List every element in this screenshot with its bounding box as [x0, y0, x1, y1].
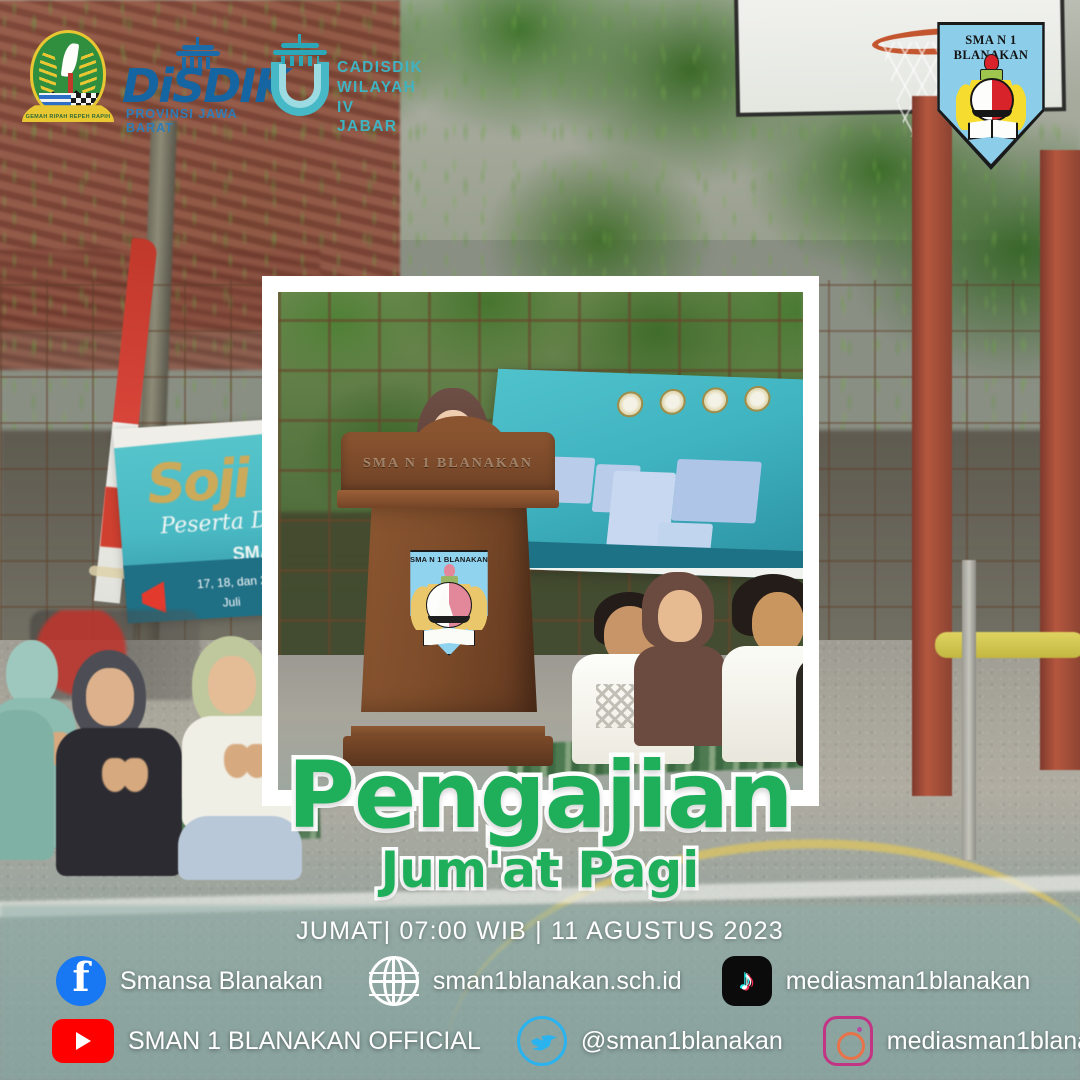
grey-pole — [962, 560, 976, 860]
crest-boat-icon — [428, 616, 470, 623]
podium-crest: SMA N 1 BLANAKAN — [405, 550, 493, 656]
cadisdik-line2: WILAYAH IV — [337, 78, 425, 118]
social-twitter[interactable]: @sman1blanakan — [517, 1016, 783, 1066]
instagram-label: mediasman1blanakan — [887, 1027, 1080, 1056]
framed-photo: SMA N 1 BLANAKAN SMA N 1 BLANAKAN — [278, 292, 803, 790]
social-footer: Smansa Blanakan sman1blanakan.sch.id med… — [0, 956, 1080, 1066]
social-row-2: SMAN 1 BLANAKAN OFFICIAL @sman1blanakan … — [52, 1016, 1028, 1066]
social-tiktok[interactable]: mediasman1blanakan — [722, 956, 1031, 1006]
poster-root: Soji Peserta Didik SMA N 1 17, 18, dan 2… — [0, 0, 1080, 1080]
podium-lip — [337, 490, 559, 508]
provinsi-jawa-barat-emblem: GEMAH RIPAH REPEH RAPIH — [22, 26, 114, 124]
jabar-ribbon-text: GEMAH RIPAH REPEH RAPIH — [22, 114, 114, 120]
globe-meridian — [383, 956, 405, 1006]
court-pole-right — [1040, 150, 1080, 770]
cadisdik-line3: JABAR — [337, 117, 425, 137]
student-middle — [634, 572, 734, 702]
instagram-dot — [857, 1027, 862, 1032]
disdik-logo: DiSDIK PROVINSI JAWA BARAT — [122, 45, 272, 123]
disdik-subtitle: PROVINSI JAWA BARAT — [126, 107, 276, 135]
school-shield-logo: SMA N 1 BLANAKAN — [930, 22, 1052, 170]
youtube-label: SMAN 1 BLANAKAN OFFICIAL — [128, 1027, 481, 1056]
facebook-icon[interactable] — [56, 956, 106, 1006]
podium-top: SMA N 1 BLANAKAN — [341, 432, 555, 494]
podium-engraving: SMA N 1 BLANAKAN — [341, 456, 555, 472]
photo-frame: SMA N 1 BLANAKAN SMA N 1 BLANAKAN — [262, 276, 819, 806]
jabar-torch-stick — [68, 73, 73, 95]
banner-badge-1 — [616, 391, 645, 418]
cadisdik-roof-lower — [273, 50, 327, 55]
facebook-label: Smansa Blanakan — [120, 967, 323, 996]
banner-badge-2 — [658, 388, 687, 415]
school-sail-red-icon — [992, 92, 1010, 110]
twitter-label: @sman1blanakan — [581, 1027, 783, 1056]
seated-person-2 — [58, 650, 198, 870]
crest-label: SMA N 1 BLANAKAN — [405, 555, 493, 564]
instagram-icon[interactable] — [823, 1016, 873, 1066]
cadisdik-logo: CADISDIK WILAYAH IV JABAR — [265, 42, 425, 124]
social-instagram[interactable]: mediasman1blanakan — [823, 1016, 1080, 1066]
website-globe-icon[interactable] — [369, 956, 419, 1006]
cadisdik-text: CADISDIK WILAYAH IV JABAR — [337, 58, 425, 137]
social-facebook[interactable]: Smansa Blanakan — [56, 956, 323, 1006]
banner-badge-4 — [743, 385, 772, 412]
globe-parallel-1 — [369, 972, 419, 974]
youtube-icon[interactable] — [52, 1019, 114, 1063]
twitter-icon[interactable] — [517, 1016, 567, 1066]
cadisdik-roof-upper — [281, 43, 319, 48]
tiktok-label: mediasman1blanakan — [786, 967, 1031, 996]
tiktok-icon[interactable] — [722, 956, 772, 1006]
social-website[interactable]: sman1blanakan.sch.id — [369, 956, 682, 1006]
disdik-roof-upper — [182, 45, 214, 50]
banner-headline: Soji — [145, 447, 251, 516]
banner-badge-3 — [701, 387, 730, 414]
student-far-right — [798, 584, 803, 724]
seated-person-4 — [0, 690, 54, 860]
globe-parallel-2 — [369, 994, 419, 996]
flag-red-stripe — [112, 238, 158, 430]
banner-date2: Juli — [222, 595, 241, 610]
basketball-pole — [912, 96, 952, 796]
social-youtube[interactable]: SMAN 1 BLANAKAN OFFICIAL — [52, 1019, 481, 1063]
cadisdik-u-inner — [279, 64, 321, 108]
disdik-roof-lower — [176, 51, 220, 56]
crest-sail-icon — [435, 588, 453, 616]
disdik-wordmark: DiSDIK — [122, 63, 272, 109]
social-row-1: Smansa Blanakan sman1blanakan.sch.id med… — [52, 956, 1028, 1006]
jabar-wreath-left — [39, 49, 57, 97]
cadisdik-gedung-icon — [273, 38, 327, 64]
yellow-crossbar — [935, 632, 1080, 658]
jabar-oval — [30, 30, 106, 118]
banner-illustration-4 — [671, 459, 762, 524]
school-boat-icon — [972, 110, 1012, 117]
podium-base — [343, 736, 553, 766]
cadisdik-line1: CADISDIK — [337, 58, 425, 78]
jabar-wreath-right — [79, 49, 97, 97]
student-right — [726, 574, 803, 724]
podium: SMA N 1 BLANAKAN SMA N 1 BLANAKAN — [353, 432, 543, 762]
website-label: sman1blanakan.sch.id — [433, 967, 682, 996]
school-book-spine — [991, 120, 993, 138]
